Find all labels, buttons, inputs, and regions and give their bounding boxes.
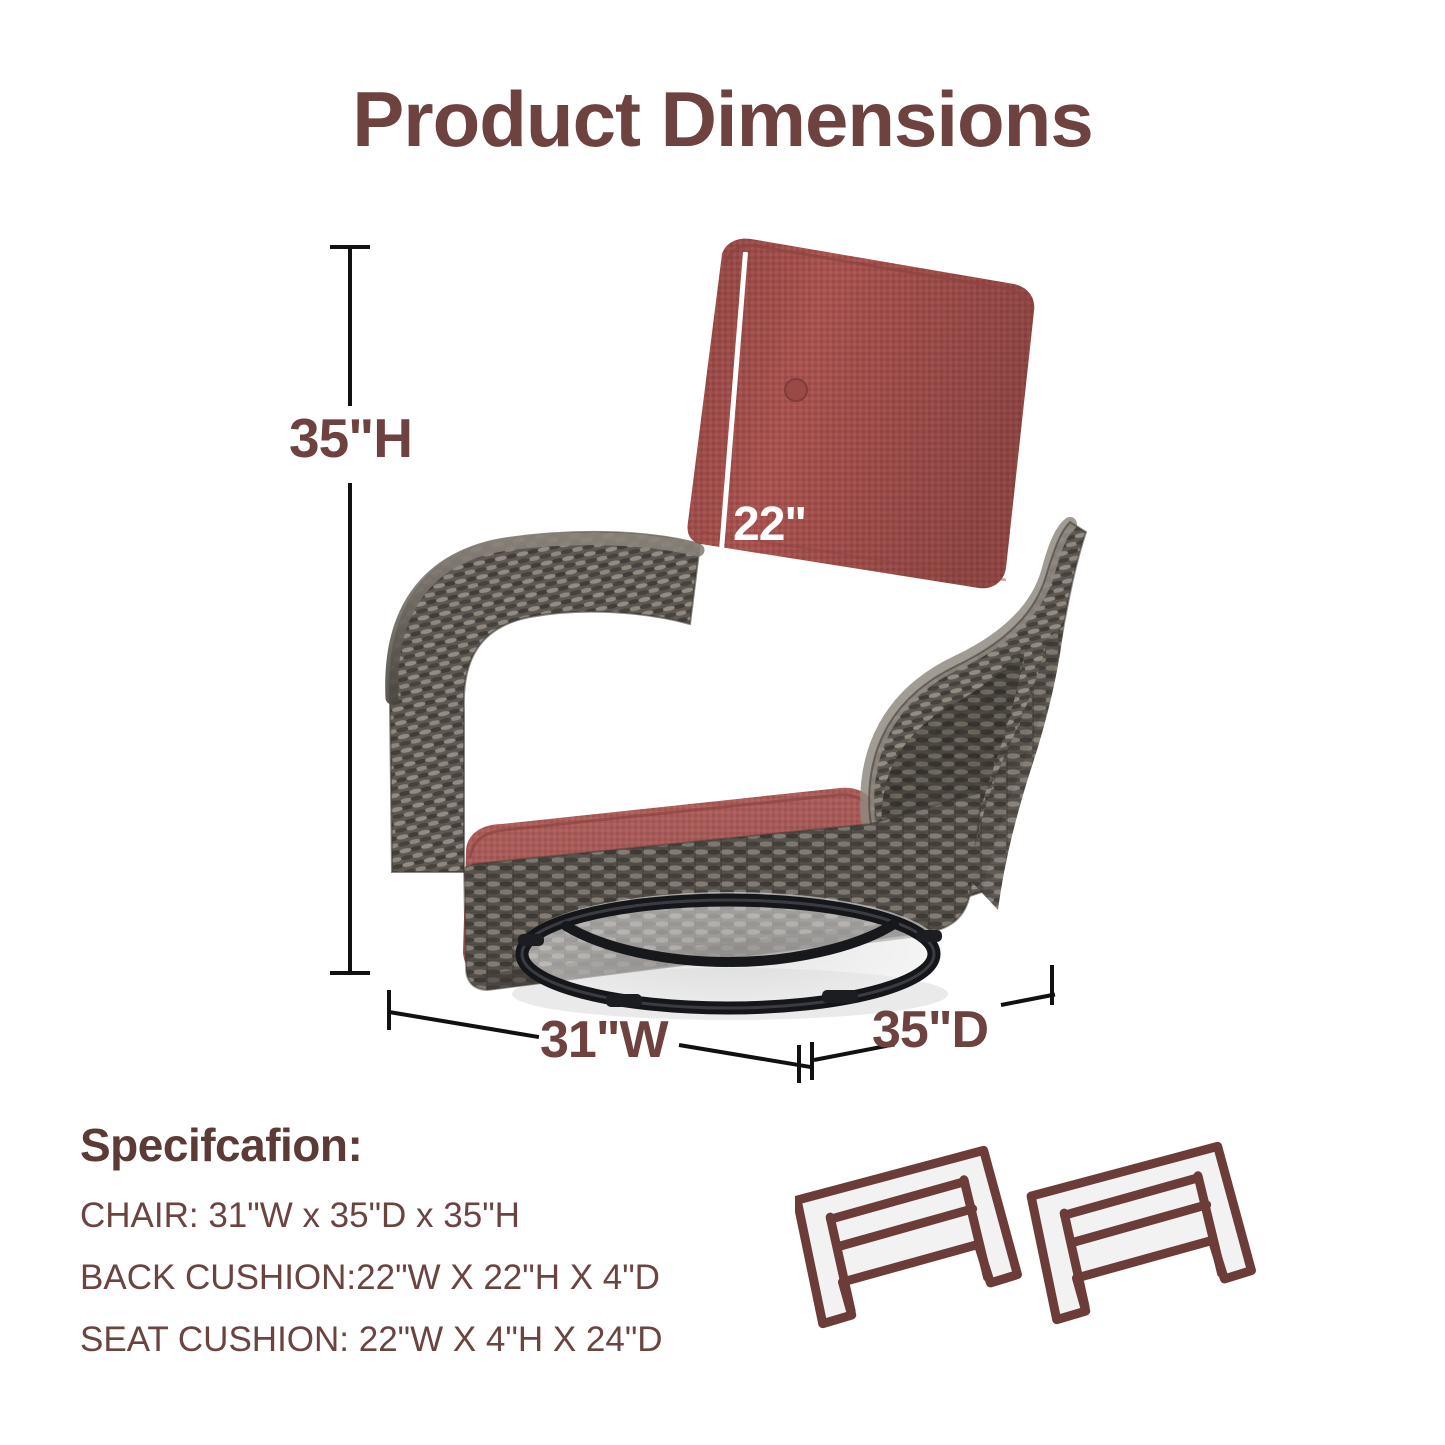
spec-line-back-cushion: BACK CUSHION:22"W X 22"H X 4"D bbox=[80, 1258, 663, 1298]
specification-block: Specifcafion: CHAIR: 31"W x 35"D x 35"H … bbox=[80, 1118, 663, 1382]
depth-dimension-cap-right bbox=[1050, 965, 1054, 1005]
width-dimension-label: 31"W bbox=[540, 1010, 668, 1070]
specification-heading: Specifcafion: bbox=[80, 1118, 663, 1172]
chair-product-image bbox=[370, 232, 1090, 1022]
seat-cushion-dimension-label: 4" bbox=[557, 666, 604, 721]
height-dimension-line-upper bbox=[348, 246, 352, 406]
chair-outline-icon-group bbox=[795, 1125, 1265, 1355]
depth-dimension-label: 35"D bbox=[872, 1000, 988, 1060]
height-dimension-cap-bottom bbox=[330, 971, 370, 975]
height-dimension-label: 35"H bbox=[289, 406, 412, 470]
page-title: Product Dimensions bbox=[0, 74, 1445, 165]
width-dimension-cap-right-inner bbox=[797, 1045, 801, 1083]
spec-line-seat-cushion: SEAT CUSHION: 22"W X 4"H X 24"D bbox=[80, 1320, 663, 1360]
height-dimension-line-lower bbox=[348, 483, 352, 975]
spec-line-chair: CHAIR: 31"W x 35"D x 35"H bbox=[80, 1196, 663, 1236]
back-cushion-measure-tick bbox=[713, 605, 749, 610]
swivel-base bbox=[518, 892, 942, 1008]
chair-outline-icon bbox=[1028, 1144, 1254, 1320]
product-dimensions-infographic: Product Dimensions bbox=[0, 0, 1445, 1445]
width-dimension-line-right bbox=[679, 1043, 814, 1069]
back-cushion-dimension-label: 22" bbox=[733, 497, 806, 552]
height-dimension-cap-top bbox=[330, 245, 370, 249]
chair-outline-icon bbox=[795, 1148, 1020, 1324]
